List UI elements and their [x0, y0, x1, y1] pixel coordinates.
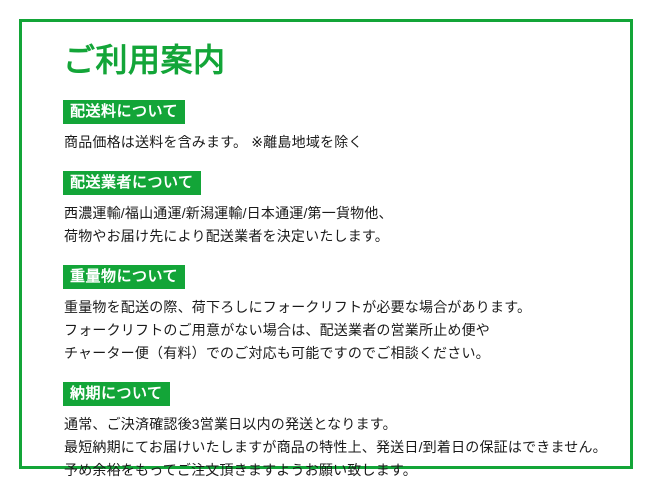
section-delivery-time: 納期について 通常、ご決済確認後3営業日以内の発送となります。 最短納期にてお届… — [63, 382, 618, 482]
section-body: 西濃運輸/福山通運/新潟運輸/日本通運/第一貨物他、 荷物やお届け先により配送業… — [64, 202, 618, 248]
section-badge: 配送業者について — [63, 171, 201, 195]
body-line: 西濃運輸/福山通運/新潟運輸/日本通運/第一貨物他、 — [64, 202, 618, 225]
body-line: 荷物やお届け先により配送業者を決定いたします。 — [64, 225, 618, 248]
section-body: 通常、ご決済確認後3営業日以内の発送となります。 最短納期にてお届けいたしますが… — [64, 413, 618, 482]
section-badge: 配送料について — [63, 100, 185, 124]
section-badge: 重量物について — [63, 265, 185, 289]
body-line: 重量物を配送の際、荷下ろしにフォークリフトが必要な場合があります。 — [64, 296, 618, 319]
section-body: 重量物を配送の際、荷下ろしにフォークリフトが必要な場合があります。 フォークリフ… — [64, 296, 618, 365]
body-line: 予め余裕をもってご注文頂きますようお願い致します。 — [64, 459, 618, 482]
page-title: ご利用案内 — [63, 44, 226, 78]
body-line: 最短納期にてお届けいたしますが商品の特性上、発送日/到着日の保証はできません。 — [64, 436, 618, 459]
section-carriers: 配送業者について 西濃運輸/福山通運/新潟運輸/日本通運/第一貨物他、 荷物やお… — [63, 171, 618, 248]
section-heavy-items: 重量物について 重量物を配送の際、荷下ろしにフォークリフトが必要な場合があります… — [63, 265, 618, 365]
section-badge: 納期について — [63, 382, 170, 406]
info-panel: ご利用案内 配送料について 商品価格は送料を含みます。 ※離島地域を除く 配送業… — [19, 19, 633, 469]
body-line: チャーター便（有料）でのご対応も可能ですのでご相談ください。 — [64, 342, 618, 365]
body-line: 商品価格は送料を含みます。 ※離島地域を除く — [64, 131, 618, 154]
section-body: 商品価格は送料を含みます。 ※離島地域を除く — [64, 131, 618, 154]
section-shipping-fee: 配送料について 商品価格は送料を含みます。 ※離島地域を除く — [63, 100, 618, 154]
body-line: フォークリフトのご用意がない場合は、配送業者の営業所止め便や — [64, 319, 618, 342]
section-list: 配送料について 商品価格は送料を含みます。 ※離島地域を除く 配送業者について … — [63, 100, 618, 482]
body-line: 通常、ご決済確認後3営業日以内の発送となります。 — [64, 413, 618, 436]
